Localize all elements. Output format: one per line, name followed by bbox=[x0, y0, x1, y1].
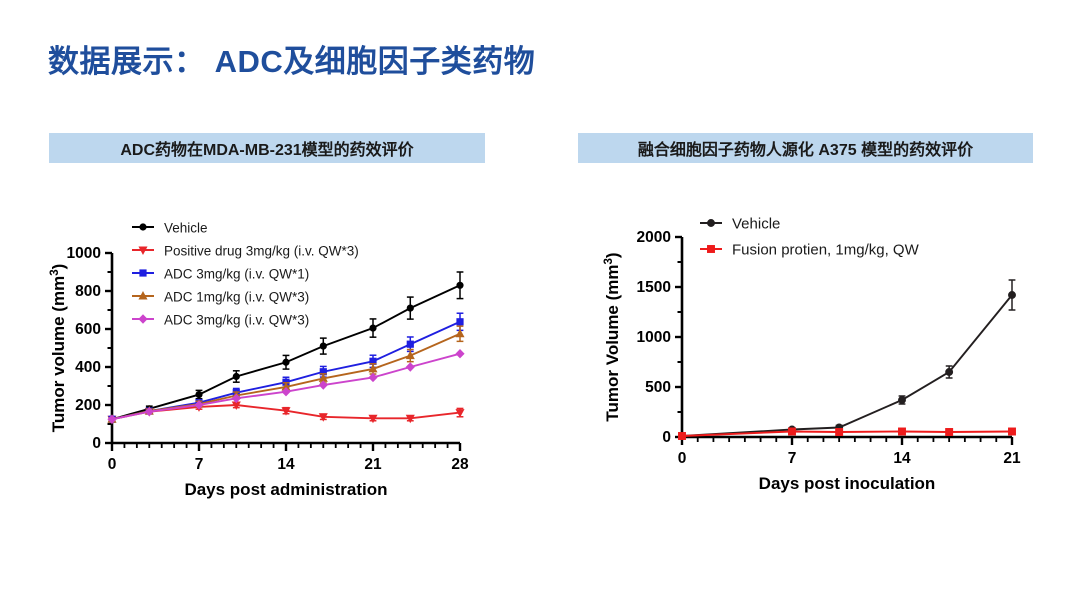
x-tick-label: 14 bbox=[277, 456, 295, 473]
legend-item[interactable]: ADC 3mg/kg (i.v. QW*3) bbox=[132, 313, 309, 328]
y-axis-label: Tumor Volume (mm3) bbox=[603, 252, 622, 421]
legend-label: Vehicle bbox=[732, 216, 780, 233]
data-point-marker bbox=[406, 363, 414, 371]
data-point-marker bbox=[789, 428, 796, 435]
chart-legend: VehiclePositive drug 3mg/kg (i.v. QW*3)A… bbox=[132, 221, 359, 328]
slide-root: 数据展示： ADC及细胞因子类药物 ADC药物在MDA-MB-231模型的药效评… bbox=[0, 0, 1080, 608]
x-tick-label: 0 bbox=[108, 456, 117, 473]
y-tick-label: 2000 bbox=[637, 229, 671, 246]
data-point-marker bbox=[407, 341, 413, 347]
legend-label: ADC 1mg/kg (i.v. QW*3) bbox=[164, 290, 309, 305]
chart-adc-mda-mb-231: 0200400600800100007142128Days post admin… bbox=[40, 195, 470, 515]
x-tick-label: 7 bbox=[195, 456, 204, 473]
data-point-marker bbox=[679, 433, 686, 440]
series-line bbox=[682, 295, 1012, 436]
data-point-marker bbox=[946, 429, 953, 436]
svg-text:Tumor Volume (mm3): Tumor Volume (mm3) bbox=[603, 252, 622, 421]
legend-label: ADC 3mg/kg (i.v. QW*3) bbox=[164, 313, 309, 328]
data-point-marker bbox=[320, 343, 326, 349]
svg-text:Tumor volume (mm3): Tumor volume (mm3) bbox=[49, 264, 68, 433]
legend-label: Fusion protien, 1mg/kg, QW bbox=[732, 242, 920, 259]
data-point-marker bbox=[946, 369, 953, 376]
data-point-marker bbox=[140, 224, 146, 230]
legend-item[interactable]: ADC 1mg/kg (i.v. QW*3) bbox=[132, 290, 309, 305]
legend-item[interactable]: Vehicle bbox=[700, 216, 780, 233]
y-axis-label: Tumor volume (mm3) bbox=[49, 264, 68, 433]
data-point-marker bbox=[836, 429, 843, 436]
data-point-marker bbox=[407, 305, 413, 311]
y-tick-label: 400 bbox=[75, 359, 101, 376]
data-point-marker bbox=[899, 397, 906, 404]
data-point-marker bbox=[456, 350, 464, 358]
y-tick-label: 500 bbox=[645, 379, 671, 396]
chart-fusion-cytokine-a375: 0500100015002000071421Days post inoculat… bbox=[590, 195, 1030, 515]
y-tick-label: 0 bbox=[662, 429, 671, 446]
y-tick-label: 600 bbox=[75, 321, 101, 338]
data-point-marker bbox=[457, 282, 463, 288]
data-point-marker bbox=[370, 325, 376, 331]
data-point-marker bbox=[139, 315, 147, 323]
data-point-marker bbox=[899, 428, 906, 435]
chart-canvas-right: 0500100015002000071421Days post inoculat… bbox=[590, 195, 1030, 515]
y-tick-label: 1000 bbox=[67, 245, 101, 262]
data-point-marker bbox=[708, 246, 715, 253]
data-point-marker bbox=[233, 373, 239, 379]
series-line bbox=[112, 285, 460, 419]
x-axis-label: Days post administration bbox=[184, 480, 387, 499]
legend-item[interactable]: Positive drug 3mg/kg (i.v. QW*3) bbox=[132, 244, 359, 259]
legend-item[interactable]: ADC 3mg/kg (i.v. QW*1) bbox=[132, 267, 309, 282]
y-tick-label: 1000 bbox=[637, 329, 671, 346]
data-point-marker bbox=[283, 359, 289, 365]
y-tick-label: 200 bbox=[75, 397, 101, 414]
panel-header-right: 融合细胞因子药物人源化 A375 模型的药效评价 bbox=[578, 133, 1033, 163]
x-axis-label: Days post inoculation bbox=[759, 474, 936, 493]
panel-header-left: ADC药物在MDA-MB-231模型的药效评价 bbox=[49, 133, 485, 163]
data-point-marker bbox=[457, 319, 463, 325]
x-tick-label: 28 bbox=[451, 456, 469, 473]
x-tick-label: 0 bbox=[678, 450, 687, 467]
legend-item[interactable]: Fusion protien, 1mg/kg, QW bbox=[700, 242, 920, 259]
legend-label: Positive drug 3mg/kg (i.v. QW*3) bbox=[164, 244, 359, 259]
data-point-marker bbox=[1009, 292, 1016, 299]
y-tick-label: 800 bbox=[75, 283, 101, 300]
legend-label: ADC 3mg/kg (i.v. QW*1) bbox=[164, 267, 309, 282]
legend-label: Vehicle bbox=[164, 221, 208, 236]
x-tick-label: 14 bbox=[893, 450, 911, 467]
data-point-marker bbox=[140, 270, 146, 276]
data-point-marker bbox=[708, 220, 715, 227]
x-tick-label: 21 bbox=[1003, 450, 1021, 467]
chart-canvas-left: 0200400600800100007142128Days post admin… bbox=[40, 195, 470, 515]
data-point-marker bbox=[1009, 428, 1016, 435]
series-0 bbox=[679, 280, 1016, 439]
y-tick-label: 1500 bbox=[637, 279, 671, 296]
page-title: 数据展示： ADC及细胞因子类药物 bbox=[48, 36, 535, 81]
x-tick-label: 7 bbox=[788, 450, 797, 467]
chart-legend: VehicleFusion protien, 1mg/kg, QW bbox=[700, 216, 920, 259]
y-tick-label: 0 bbox=[92, 435, 101, 452]
legend-item[interactable]: Vehicle bbox=[132, 221, 208, 236]
data-point-marker bbox=[196, 391, 202, 397]
x-tick-label: 21 bbox=[364, 456, 382, 473]
